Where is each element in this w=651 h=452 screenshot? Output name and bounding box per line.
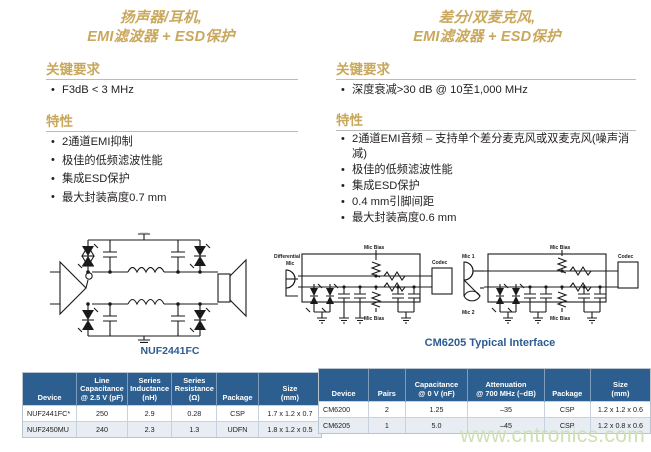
cell-device: NUF2441FC* [23, 406, 77, 422]
mic-bias-label: Mic Bias [364, 245, 385, 251]
table-row: CM6200 2 1.25 –35 CSP 1.2 x 1.2 x 0.6 [319, 402, 650, 418]
left-features-section: 特性 2通道EMI抑制 极佳的低频滤波性能 集成ESD保护 最大封装高度0.7 … [46, 114, 298, 206]
list-item: 最大封装高度0.6 mm [336, 211, 636, 226]
cell-series-inductance: 2.9 [127, 406, 172, 422]
right-key-requirements-heading: 关键要求 [336, 62, 636, 80]
left-features-heading: 特性 [46, 114, 298, 132]
cell-attenuation: –35 [468, 402, 544, 418]
list-item: 2通道EMI抑制 [46, 135, 298, 151]
cell-package: CSP [544, 402, 590, 418]
left-circuit-diagram [50, 232, 280, 344]
col-series-inductance: Series Inductance (nH) [127, 373, 172, 406]
table-header-row: Device Pairs Capacitance @ 0 V (nF) Atte… [319, 369, 650, 402]
right-title-line2: EMI滤波器 + ESD保护 [332, 28, 642, 47]
list-item: 集成ESD保护 [336, 179, 636, 194]
list-item: 极佳的低频滤波性能 [46, 154, 298, 170]
left-diagram-caption: NUF2441FC [60, 345, 280, 357]
codec-label: Codec [432, 260, 448, 266]
svg-text:Mic Bias: Mic Bias [550, 245, 571, 251]
cell-capacitance: 5.0 [405, 418, 468, 434]
col-line-capacitance: Line Capacitance @ 2.5 V (pF) [77, 373, 128, 406]
left-title: 扬声器/耳机, EMI滤波器 + ESD保护 [8, 9, 314, 47]
col-package: Package [544, 369, 590, 402]
col-device: Device [319, 369, 369, 402]
col-package: Package [217, 373, 259, 406]
slide-root: 扬声器/耳机, EMI滤波器 + ESD保护 关键要求 F3dB < 3 MHz… [0, 0, 651, 452]
right-diagram-caption: CM6205 Typical Interface [330, 337, 650, 349]
list-item: 集成ESD保护 [46, 172, 298, 188]
list-item: 最大封装高度0.7 mm [46, 191, 298, 207]
left-key-requirements-list: F3dB < 3 MHz [46, 83, 298, 99]
col-size: Size (mm) [258, 373, 321, 406]
right-circuit-diagram: Differential Mic [272, 240, 647, 340]
svg-text:Codec: Codec [618, 254, 634, 260]
right-title-line1: 差分/双麦克风, [332, 9, 642, 28]
right-key-requirements-section: 关键要求 深度衰减>30 dB @ 10至1,000 MHz [336, 62, 636, 99]
list-item: 深度衰减>30 dB @ 10至1,000 MHz [336, 83, 636, 99]
table-header-row: Device Line Capacitance @ 2.5 V (pF) Ser… [23, 373, 321, 406]
differential-mic-label: Differential [274, 254, 301, 260]
mic1-label: Mic 1 [462, 254, 475, 260]
mic2-label: Mic 2 [462, 310, 475, 316]
cell-line-capacitance: 250 [77, 406, 128, 422]
col-capacitance: Capacitance @ 0 V (nF) [405, 369, 468, 402]
list-item: F3dB < 3 MHz [46, 83, 298, 99]
site-watermark: www.cntronics.com [460, 424, 645, 448]
list-item: 0.4 mm引脚间距 [336, 195, 636, 210]
cell-pairs: 2 [369, 402, 405, 418]
cell-package: CSP [217, 406, 259, 422]
cell-pairs: 1 [369, 418, 405, 434]
left-key-requirements-section: 关键要求 F3dB < 3 MHz [46, 62, 298, 99]
list-item: 2通道EMI音频 – 支持单个差分麦克风或双麦克风(噪声消减) [336, 132, 636, 162]
cell-series-inductance: 2.3 [127, 422, 172, 438]
col-attenuation: Attenuation @ 700 MHz (–dB) [468, 369, 544, 402]
right-title: 差分/双麦克风, EMI滤波器 + ESD保护 [332, 9, 642, 47]
svg-text:Mic Bias: Mic Bias [364, 316, 385, 322]
cell-series-resistance: 1.3 [172, 422, 217, 438]
col-device: Device [23, 373, 77, 406]
cell-size: 1.2 x 1.2 x 0.6 [590, 402, 650, 418]
left-key-requirements-heading: 关键要求 [46, 62, 298, 80]
right-features-list: 2通道EMI音频 – 支持单个差分麦克风或双麦克风(噪声消减) 极佳的低频滤波性… [336, 132, 636, 226]
left-features-list: 2通道EMI抑制 极佳的低频滤波性能 集成ESD保护 最大封装高度0.7 mm [46, 135, 298, 206]
left-title-line1: 扬声器/耳机, [8, 9, 314, 28]
right-features-section: 特性 2通道EMI音频 – 支持单个差分麦克风或双麦克风(噪声消减) 极佳的低频… [336, 113, 636, 226]
cell-size: 1.8 x 1.2 x 0.5 [258, 422, 321, 438]
cell-device: NUF2450MU [23, 422, 77, 438]
right-features-heading: 特性 [336, 113, 636, 131]
table-row: NUF2441FC* 250 2.9 0.28 CSP 1.7 x 1.2 x … [23, 406, 321, 422]
cell-package: UDFN [217, 422, 259, 438]
cell-line-capacitance: 240 [77, 422, 128, 438]
cell-size: 1.7 x 1.2 x 0.7 [258, 406, 321, 422]
svg-text:Mic: Mic [286, 261, 295, 267]
col-size: Size (mm) [590, 369, 650, 402]
cell-series-resistance: 0.28 [172, 406, 217, 422]
cell-device: CM6205 [319, 418, 369, 434]
right-key-requirements-list: 深度衰减>30 dB @ 10至1,000 MHz [336, 83, 636, 99]
table-row: NUF2450MU 240 2.3 1.3 UDFN 1.8 x 1.2 x 0… [23, 422, 321, 438]
left-title-line2: EMI滤波器 + ESD保护 [8, 28, 314, 47]
left-parts-table: Device Line Capacitance @ 2.5 V (pF) Ser… [22, 372, 322, 438]
col-pairs: Pairs [369, 369, 405, 402]
cell-capacitance: 1.25 [405, 402, 468, 418]
col-series-resistance: Series Resistance (Ω) [172, 373, 217, 406]
cell-device: CM6200 [319, 402, 369, 418]
svg-text:Mic Bias: Mic Bias [550, 316, 571, 322]
list-item: 极佳的低频滤波性能 [336, 163, 636, 178]
